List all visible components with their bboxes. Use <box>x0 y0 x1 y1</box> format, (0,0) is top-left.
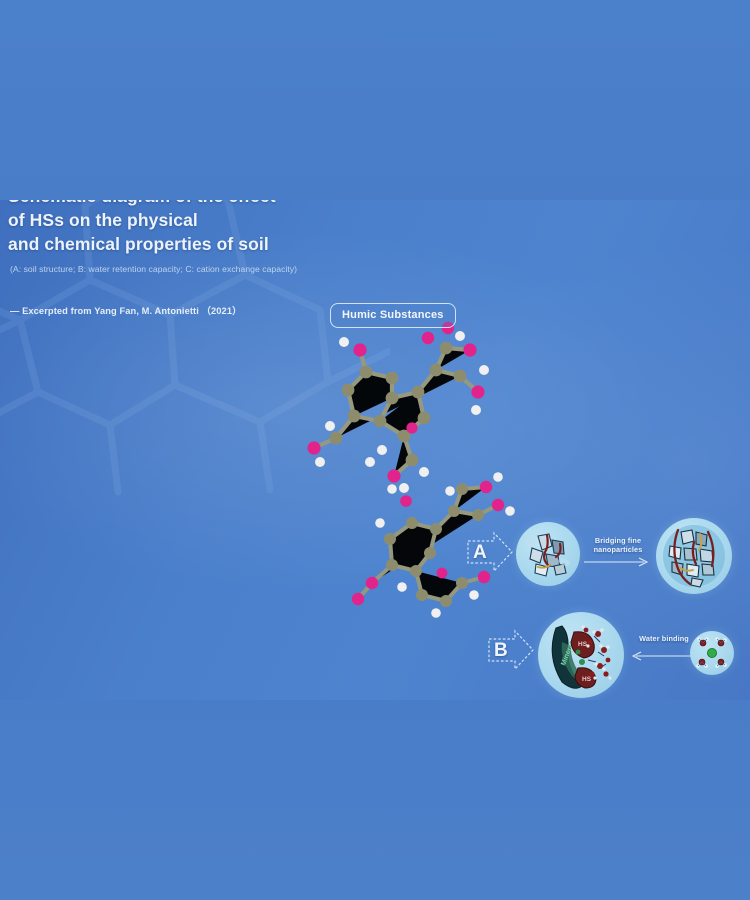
row-b-right-disc <box>690 631 734 675</box>
row-b-chevron: B <box>487 628 535 672</box>
title-line-1: Schematic diagram of the effect <box>8 186 276 206</box>
page-title: Schematic diagram of the effect of HSs o… <box>8 185 338 256</box>
row-a-arrow <box>584 556 652 568</box>
letterbox-top <box>0 0 750 200</box>
row-a-chevron: A <box>466 530 514 574</box>
humic-substances-label: Humic Substances <box>330 303 456 328</box>
row-a-right-disc <box>656 518 732 594</box>
figure-canvas: A <box>0 0 750 900</box>
row-a-arrow-label: Bridging fine nanoparticles <box>582 536 654 554</box>
letterbox-bottom <box>0 700 750 900</box>
figure-subtitle: (A: soil structure; B: water retention c… <box>10 263 338 275</box>
source-credit: — Excerpted from Yang Fan, M. Antonietti… <box>10 303 338 317</box>
row-b-left-disc: Mineral HS HS <box>538 612 624 698</box>
row-b-arrow-label: Water binding <box>630 634 698 643</box>
title-line-2: of HSs on the physical <box>8 210 198 230</box>
hs-tag-2: HS <box>582 676 592 683</box>
row-a-left-disc <box>516 522 580 586</box>
hs-tag-1: HS <box>578 641 588 648</box>
title-block: Schematic diagram of the effect of HSs o… <box>8 185 338 317</box>
title-line-3: and chemical properties of soil <box>8 234 269 254</box>
row-b-letter: B <box>487 628 535 672</box>
row-a-letter: A <box>466 530 514 574</box>
row-b-arrow <box>630 650 692 662</box>
